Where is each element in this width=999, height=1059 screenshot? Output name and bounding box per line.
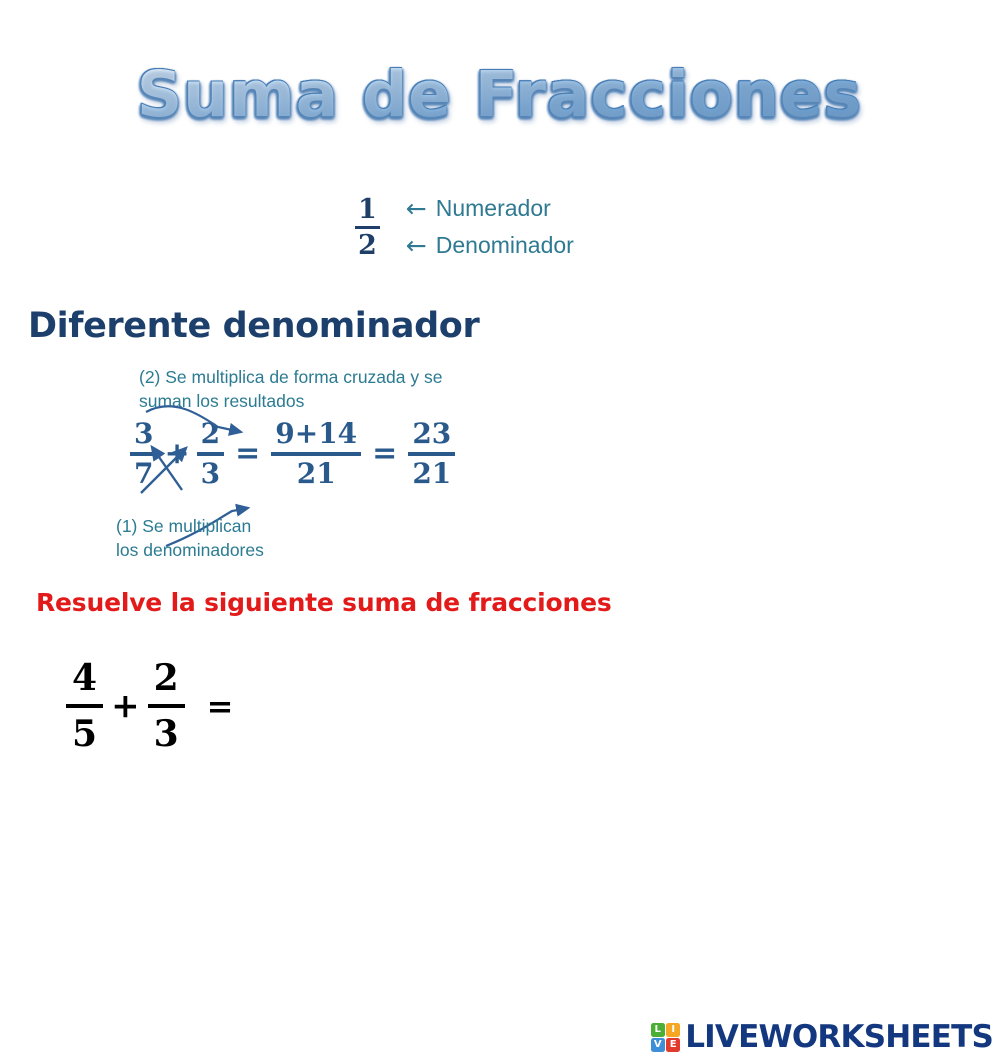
example-left-numerator: 3 [130,420,157,448]
example-middle-denominator: 21 [271,460,361,488]
example-note-step-1-line1: (1) Se multiplican [116,514,264,538]
exercise-left-denominator: 5 [66,716,103,752]
logo-tile-l: L [651,1023,665,1037]
exercise-fraction-right: 2 3 [148,660,185,752]
example-right-fraction-bar [197,452,224,456]
exercise-equals-sign: = [185,690,242,722]
exercise-left-fraction-bar [66,704,103,708]
legend-label-numerador: Numerador [436,190,551,227]
legend-row-denominador: ← Denominador [406,227,574,264]
example-right-denominator: 3 [197,460,224,488]
exercise-plus-sign: + [103,689,148,723]
example-equals-sign-1: = [224,439,271,469]
example-fraction-left: 3 7 [130,420,157,488]
example-result-fraction-bar [408,452,455,456]
exercise-equation: 4 5 + 2 3 = [66,660,451,752]
example-note-step-2-line1: (2) Se multiplica de forma cruzada y se [139,365,442,389]
exercise-right-numerator: 2 [148,660,185,696]
example-equals-sign-2: = [361,439,408,469]
logo-tile-v: V [651,1038,665,1052]
example-fraction-middle: 9+14 21 [271,420,361,488]
legend-label-denominador: Denominador [436,227,574,264]
legend-denominator: 2 [355,232,380,259]
liveworksheets-logo: L I V E LIVEWORKSHEETS [651,1022,993,1053]
example-right-numerator: 2 [197,420,224,448]
legend-numerator: 1 [355,196,380,223]
example-note-step-1: (1) Se multiplican los denominadores [116,514,264,562]
exercise-left-numerator: 4 [66,660,103,696]
exercise-right-denominator: 3 [148,716,185,752]
example-middle-fraction-bar [271,452,361,456]
worksheet-page: Suma de Fracciones 1 2 ← Numerador ← Den… [0,0,999,1059]
legend-labels: ← Numerador ← Denominador [406,190,574,264]
legend-fraction-bar [355,226,380,229]
legend-fraction: 1 2 [355,196,380,259]
left-arrow-icon: ← [406,233,427,258]
page-title: Suma de Fracciones [137,62,862,128]
example-result-denominator: 21 [408,460,455,488]
example-left-denominator: 7 [130,460,157,488]
worked-example: (2) Se multiplica de forma cruzada y se … [0,360,560,570]
instruction-text: Resuelve la siguiente suma de fracciones [36,588,612,617]
example-note-step-1-line2: los denominadores [116,538,264,562]
example-note-step-2-line2: suman los resultados [139,389,442,413]
exercise-fraction-left: 4 5 [66,660,103,752]
liveworksheets-logo-tiles: L I V E [651,1023,681,1053]
example-fraction-right: 2 3 [197,420,224,488]
example-middle-numerator: 9+14 [271,420,361,448]
example-plus-sign: + [157,439,196,469]
example-equation: 3 7 + 2 3 = 9+14 21 = 23 21 [130,420,455,488]
example-fraction-result: 23 21 [408,420,455,488]
page-title-container: Suma de Fracciones [0,62,999,128]
exercise-answer-area[interactable] [241,676,451,736]
logo-tile-i: I [666,1023,680,1037]
logo-tile-e: E [666,1038,680,1052]
fraction-legend: 1 2 ← Numerador ← Denominador [355,190,574,264]
left-arrow-icon: ← [406,196,427,221]
example-note-step-2: (2) Se multiplica de forma cruzada y se … [139,365,442,413]
section-heading: Diferente denominador [28,306,479,346]
liveworksheets-wordmark: LIVEWORKSHEETS [685,1022,993,1053]
exercise-right-fraction-bar [148,704,185,708]
example-result-numerator: 23 [408,420,455,448]
legend-row-numerador: ← Numerador [406,190,574,227]
example-left-fraction-bar [130,452,157,456]
